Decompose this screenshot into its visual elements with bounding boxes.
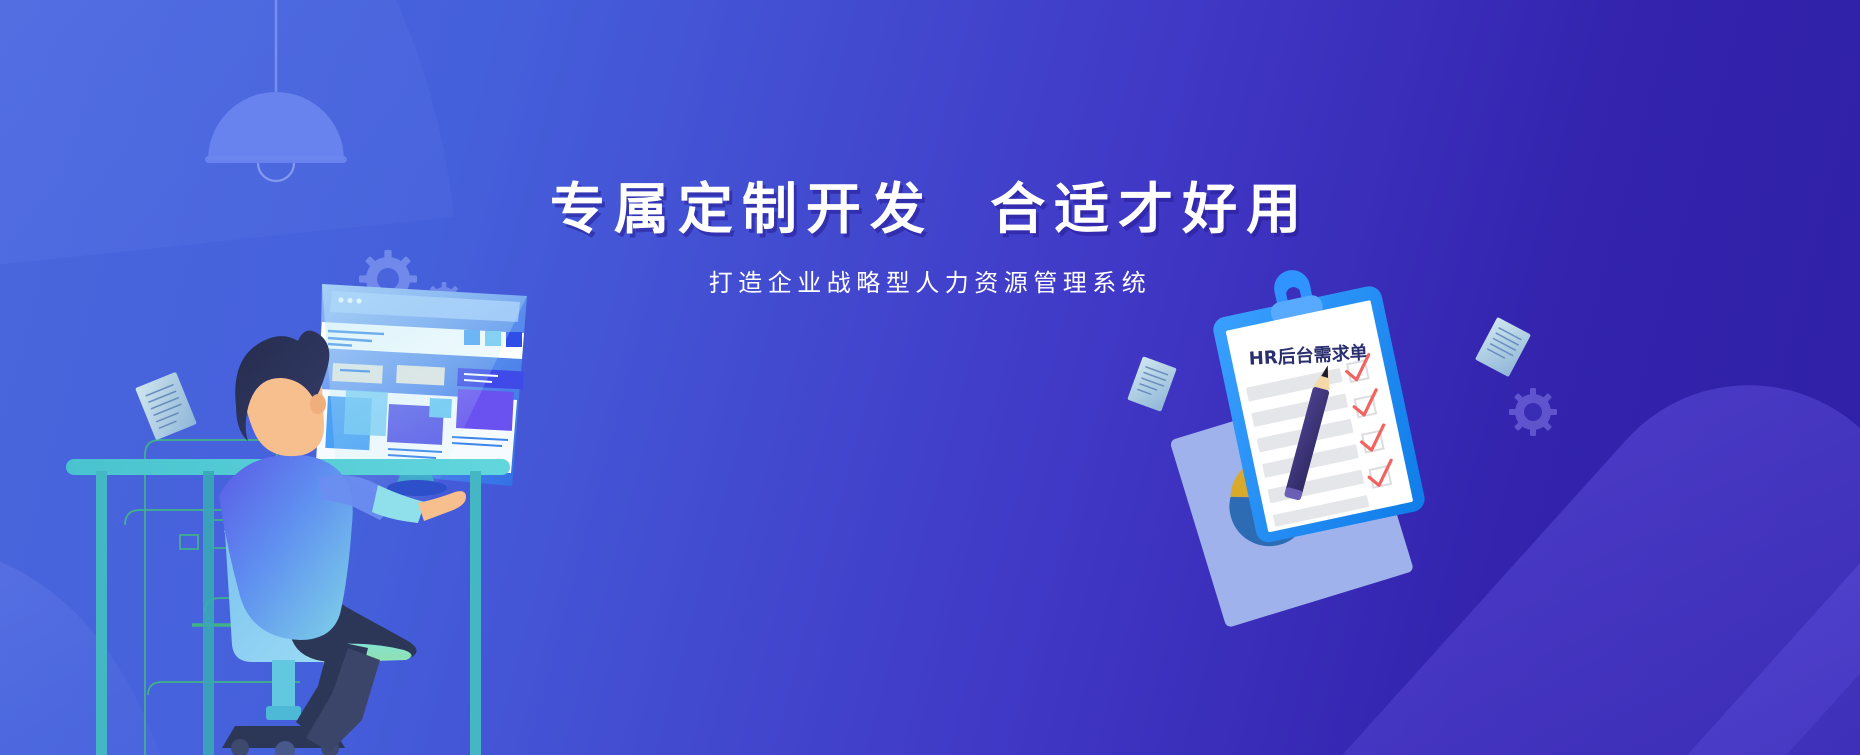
- hero-banner: HR后台需求单: [0, 0, 1860, 755]
- hr-clipboard-illustration: HR后台需求单: [0, 0, 1860, 755]
